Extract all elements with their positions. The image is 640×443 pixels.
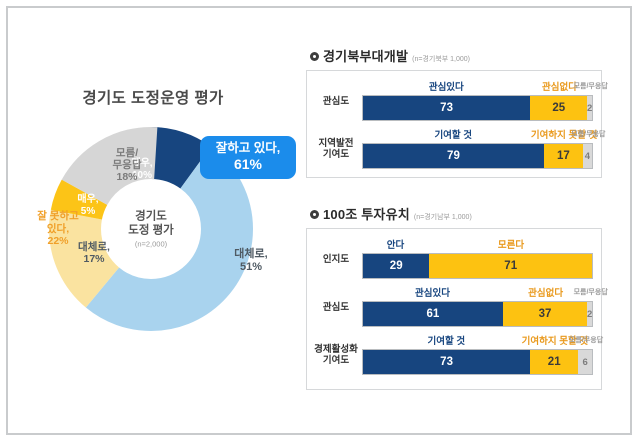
section-title: 100조 투자유치 <box>323 204 410 223</box>
callout-positive-value: 61% <box>200 156 296 173</box>
bar-segment-positive: 73 <box>363 96 530 120</box>
bar-row: 관심도 관심있다 관심없다 모름/무응답 61 37 2 <box>311 284 593 328</box>
bar-segment-negative: 17 <box>544 144 583 168</box>
section-sample-size: (n=경기남부 1,000) <box>414 212 472 222</box>
bar-chart-box: 인지도 안다 모른다 29 71 관심도 <box>306 228 602 390</box>
stacked-bar: 79 17 4 <box>362 143 593 169</box>
bar-row-captions: 안다 모른다 <box>362 237 593 251</box>
bar-row: 관심도 관심있다 관심없다 모름/무응답 73 25 2 <box>311 78 593 122</box>
section-header: 100조 투자유치 (n=경기남부 1,000) <box>310 204 606 223</box>
bar-segment-positive: 73 <box>363 350 530 374</box>
section-header: 경기북부대개발 (n=경기북부 1,000) <box>310 46 606 65</box>
bar-row-label: 관심도 <box>311 97 361 108</box>
caption-positive: 기여할 것 <box>362 333 531 347</box>
caption-positive: 기여할 것 <box>362 127 544 141</box>
donut-chart-panel: 경기도 도정운영 평가 경기도 도정 평가 (n=2,000) 매우, <box>8 8 304 433</box>
callout-positive: 잘하고 있다, 61% <box>200 136 296 179</box>
bar-row-label-line2: 기여도 <box>311 356 361 367</box>
donut-center-sample-size: (n=2,000) <box>96 239 206 248</box>
bar-segment-dont-know: 6 <box>578 350 592 374</box>
bar-row-label-line1: 관심도 <box>311 303 361 314</box>
bar-segment-negative: 21 <box>530 350 578 374</box>
callout-negative-value: 22% <box>22 235 94 248</box>
bar-segment-dont-know: 2 <box>587 96 592 120</box>
callout-negative-line2: 있다, <box>22 223 94 236</box>
donut-chart-title: 경기도 도정운영 평가 <box>8 86 298 108</box>
caption-positive: 관심있다 <box>362 285 503 299</box>
bar-segment-positive: 29 <box>363 254 429 278</box>
caption-positive: 안다 <box>362 237 429 251</box>
section-gyeonggi-north-development: 경기북부대개발 (n=경기북부 1,000) 관심도 관심있다 관심없다 모름/… <box>306 46 606 178</box>
bar-row-captions: 관심있다 관심없다 모름/무응답 <box>362 285 593 299</box>
bar-segment-positive: 61 <box>363 302 503 326</box>
callout-negative-line1: 잘 못하고 <box>22 210 94 223</box>
bullet-circle-icon <box>310 210 319 219</box>
bar-charts-panel: 경기북부대개발 (n=경기북부 1,000) 관심도 관심있다 관심없다 모름/… <box>306 8 634 433</box>
section-sample-size: (n=경기북부 1,000) <box>412 54 470 64</box>
bullet-circle-icon <box>310 52 319 61</box>
bar-segment-negative: 71 <box>429 254 592 278</box>
bar-row-label: 인지도 <box>311 255 361 266</box>
caption-dont-know: 모름/무응답 <box>579 333 593 347</box>
stacked-bar: 29 71 <box>362 253 593 279</box>
bar-chart-box: 관심도 관심있다 관심없다 모름/무응답 73 25 2 지역 <box>306 70 602 178</box>
section-investment-attraction: 100조 투자유치 (n=경기남부 1,000) 인지도 안다 모른다 29 7… <box>306 204 606 390</box>
bar-segment-dont-know: 4 <box>583 144 592 168</box>
donut-center-label: 경기도 도정 평가 (n=2,000) <box>96 209 206 248</box>
stacked-bar: 73 25 2 <box>362 95 593 121</box>
caption-positive: 관심있다 <box>362 79 531 93</box>
bar-row-label: 지역발전 기여도 <box>311 139 361 161</box>
bar-row-label: 관심도 <box>311 303 361 314</box>
donut-center-line2: 도정 평가 <box>96 223 206 237</box>
bar-row-captions: 기여할 것 기여하지 못할 것 모름/무응답 <box>362 127 593 141</box>
caption-dont-know: 모름/무응답 <box>588 79 593 93</box>
infographic-frame: 경기도 도정운영 평가 경기도 도정 평가 (n=2,000) 매우, <box>6 6 632 435</box>
bar-segment-dont-know: 2 <box>587 302 592 326</box>
stacked-bar: 61 37 2 <box>362 301 593 327</box>
callout-positive-label: 잘하고 있다, <box>200 141 296 156</box>
bar-row: 인지도 안다 모른다 29 71 <box>311 236 593 280</box>
bar-row-label: 경제활성화 기여도 <box>311 345 361 367</box>
bar-row-label-line1: 인지도 <box>311 255 361 266</box>
bar-row-label-line2: 기여도 <box>311 150 361 161</box>
bar-segment-positive: 79 <box>363 144 544 168</box>
bar-segment-negative: 37 <box>503 302 588 326</box>
caption-negative: 모른다 <box>429 237 593 251</box>
bar-row-captions: 관심있다 관심없다 모름/무응답 <box>362 79 593 93</box>
callout-negative: 잘 못하고 있다, 22% <box>22 210 94 248</box>
bar-segment-negative: 25 <box>530 96 587 120</box>
section-title: 경기북부대개발 <box>323 46 408 65</box>
bar-row: 경제활성화 기여도 기여할 것 기여하지 못할 것 모름/무응답 73 21 6 <box>311 332 593 376</box>
caption-dont-know: 모름/무응답 <box>584 127 593 141</box>
caption-dont-know: 모름/무응답 <box>588 285 593 299</box>
stacked-bar: 73 21 6 <box>362 349 593 375</box>
bar-row-label-line1: 관심도 <box>311 97 361 108</box>
bar-row-captions: 기여할 것 기여하지 못할 것 모름/무응답 <box>362 333 593 347</box>
bar-row: 지역발전 기여도 기여할 것 기여하지 못할 것 모름/무응답 79 17 4 <box>311 126 593 170</box>
donut-center-line1: 경기도 <box>96 209 206 223</box>
